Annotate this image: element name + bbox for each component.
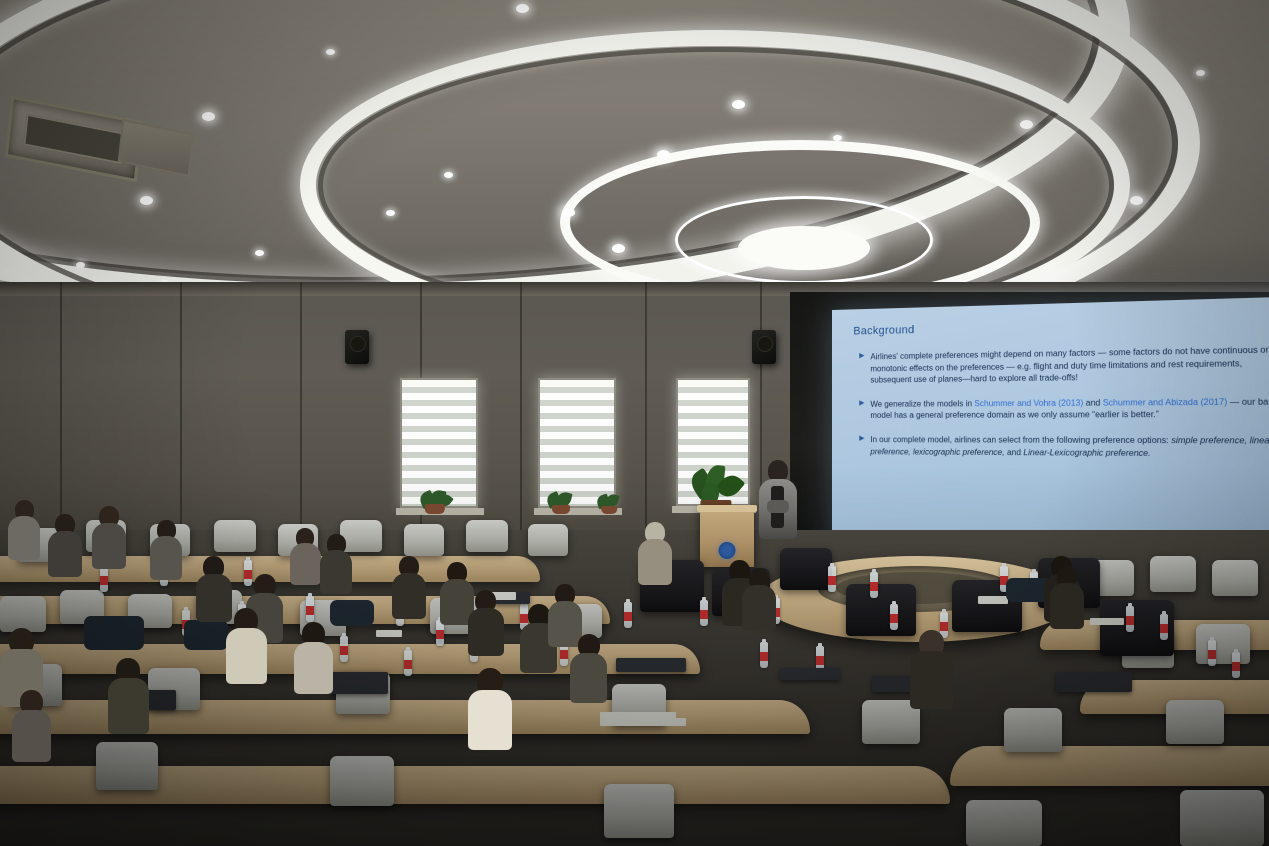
water-bottle — [870, 572, 878, 598]
water-bottle — [760, 642, 768, 668]
audience-member — [910, 630, 953, 708]
audience-member — [1050, 566, 1084, 628]
presenter-hands — [767, 500, 789, 513]
audience-chair[interactable] — [528, 524, 568, 556]
water-bottle — [340, 636, 348, 662]
citation-link[interactable]: Schummer and Abizada (2017) — [1103, 397, 1227, 407]
wall-seam — [300, 282, 302, 542]
audience-chair[interactable] — [1196, 624, 1250, 664]
water-bottle — [1126, 606, 1134, 632]
water-bottle — [700, 600, 708, 626]
water-bottle — [624, 602, 632, 628]
audience-member — [570, 634, 607, 702]
citation-link[interactable]: Schummer and Vohra (2013) — [974, 398, 1083, 408]
audience-member — [742, 568, 776, 630]
bullet-text: We generalize the models in Schummer and… — [870, 395, 1269, 421]
audience-torso — [468, 608, 504, 656]
notebook-paper — [376, 630, 402, 637]
water-bottle — [1208, 640, 1216, 666]
audience-member — [12, 690, 51, 761]
ceiling-spotlight-icon — [1020, 120, 1033, 129]
bullet-marker-icon: ▶ — [859, 351, 864, 386]
audience-torso — [294, 642, 333, 695]
blind-header — [678, 380, 748, 386]
audience-member — [48, 514, 82, 576]
ceiling — [0, 0, 1269, 300]
slide-bullet: ▶We generalize the models in Schummer an… — [859, 395, 1269, 421]
audience-member — [226, 608, 267, 682]
audience-chair[interactable] — [466, 520, 508, 552]
notebook-paper — [978, 596, 1008, 604]
audience-torso — [8, 516, 40, 560]
audience-member — [8, 500, 40, 559]
audience-member — [294, 622, 333, 693]
audience-member — [638, 522, 672, 584]
audience-member — [468, 590, 504, 655]
ceiling-spotlight-icon — [657, 150, 670, 159]
audience-member — [468, 668, 512, 749]
audience-torso — [12, 710, 51, 763]
potted-plant-icon — [596, 492, 622, 514]
presentation-slide: Background ▶Airlines' complete preferenc… — [832, 296, 1269, 561]
bullet-text: Airlines' complete preferences might dep… — [870, 344, 1269, 387]
potted-plant-icon — [546, 490, 576, 514]
ceiling-spotlight-icon — [1130, 196, 1143, 205]
slide-title: Background — [853, 315, 1269, 338]
water-bottle — [1160, 614, 1168, 640]
notebook-paper — [1090, 618, 1124, 625]
water-bottle — [890, 604, 898, 630]
audience-member — [392, 556, 426, 618]
lectern — [700, 505, 754, 567]
ceiling-spotlight-icon — [255, 250, 264, 256]
audience-torso — [48, 531, 82, 577]
water-bottle — [828, 566, 836, 592]
lectern-top — [697, 505, 757, 512]
executive-chair[interactable] — [846, 584, 916, 636]
ceiling-spotlight-icon — [140, 196, 153, 205]
ceiling-spotlight-icon — [326, 49, 335, 55]
window-center — [538, 378, 616, 508]
potted-plant-icon — [418, 488, 452, 514]
laptop[interactable] — [780, 668, 840, 680]
notebook-paper — [660, 718, 686, 726]
audience-member — [92, 506, 126, 568]
bullet-marker-icon: ▶ — [859, 434, 864, 457]
audience-torso — [468, 690, 512, 750]
blind-header — [540, 380, 614, 386]
audience-torso — [742, 585, 776, 631]
slide-bullet: ▶In our complete model, airlines can sel… — [859, 434, 1269, 460]
plain-text: We generalize the models in — [870, 399, 974, 409]
plain-text: and — [1083, 398, 1102, 408]
projection-screen[interactable]: Background ▶Airlines' complete preferenc… — [832, 296, 1269, 561]
ceiling-spotlight-icon — [386, 210, 395, 216]
audience-torso — [150, 536, 182, 580]
blind-header — [402, 380, 476, 386]
emphasis-text: Linear-Lexicographic preference. — [1023, 447, 1150, 457]
ceiling-spotlight-icon — [732, 100, 745, 109]
audience-torso — [290, 543, 321, 584]
lecture-hall-scene: Background ▶Airlines' complete preferenc… — [0, 0, 1269, 846]
audience-torso — [638, 539, 672, 585]
plain-text: Airlines' complete preferences might dep… — [870, 345, 1268, 385]
audience-member — [150, 520, 182, 579]
laptop[interactable] — [1056, 672, 1132, 692]
water-bottle — [100, 566, 108, 592]
audience-torso — [226, 628, 267, 683]
ceiling-spotlight-icon — [1196, 70, 1205, 76]
audience-torso — [92, 523, 126, 569]
slide-bullet: ▶Airlines' complete preferences might de… — [859, 344, 1269, 387]
laptop[interactable] — [616, 658, 686, 672]
lecture-desk — [950, 746, 1269, 786]
audience-torso — [392, 573, 426, 619]
plain-text: and — [1005, 447, 1024, 456]
university-crest-icon — [719, 542, 736, 559]
audience-member — [320, 534, 352, 593]
audience-chair[interactable] — [1150, 556, 1196, 592]
wall-seam — [645, 282, 647, 542]
audience-chair[interactable] — [330, 756, 394, 806]
executive-chair[interactable] — [780, 548, 832, 590]
audience-torso — [108, 678, 149, 733]
plain-text: In our complete model, airlines can sele… — [870, 435, 1171, 445]
backpack — [330, 600, 374, 626]
ceiling-spotlight-icon — [562, 208, 575, 217]
bullet-text: In our complete model, airlines can sele… — [870, 434, 1269, 460]
laptop[interactable] — [330, 672, 388, 694]
slide-bullet-list: ▶Airlines' complete preferences might de… — [853, 344, 1269, 461]
ceiling-spotlight-icon — [612, 244, 625, 253]
backpack — [84, 616, 144, 650]
audience-member — [290, 528, 321, 584]
audience-chair[interactable] — [96, 742, 158, 790]
wall-seam — [180, 282, 182, 542]
ceiling-spotlight-icon — [516, 4, 529, 13]
audience-chair[interactable] — [966, 800, 1042, 846]
ceiling-spotlight-icon — [76, 262, 85, 268]
audience-member — [108, 658, 149, 732]
ceiling-center-light — [738, 226, 870, 270]
ceiling-spotlight-icon — [202, 112, 215, 121]
water-bottle — [1232, 652, 1240, 678]
wall-speaker-left — [345, 330, 369, 364]
audience-chair[interactable] — [404, 524, 444, 556]
audience-torso — [320, 550, 352, 594]
audience-chair[interactable] — [1212, 560, 1258, 596]
wall-speaker-right — [752, 330, 776, 364]
wall-seam — [60, 282, 62, 542]
presenter — [758, 460, 798, 538]
ceiling-spotlight-icon — [444, 172, 453, 178]
audience-chair[interactable] — [214, 520, 256, 552]
audience-chair[interactable] — [1166, 700, 1224, 744]
audience-chair[interactable] — [604, 784, 674, 838]
water-bottle — [306, 596, 314, 622]
audience-chair[interactable] — [0, 596, 46, 632]
bullet-marker-icon: ▶ — [859, 399, 864, 422]
ceiling-spotlight-icon — [833, 135, 842, 141]
audience-torso — [570, 653, 607, 704]
audience-chair[interactable] — [1004, 708, 1062, 752]
audience-torso — [910, 651, 953, 709]
water-bottle — [404, 650, 412, 676]
wall-seam — [520, 282, 522, 542]
audience-torso — [1050, 583, 1084, 629]
audience-chair[interactable] — [1180, 790, 1264, 846]
backpack — [184, 620, 228, 650]
